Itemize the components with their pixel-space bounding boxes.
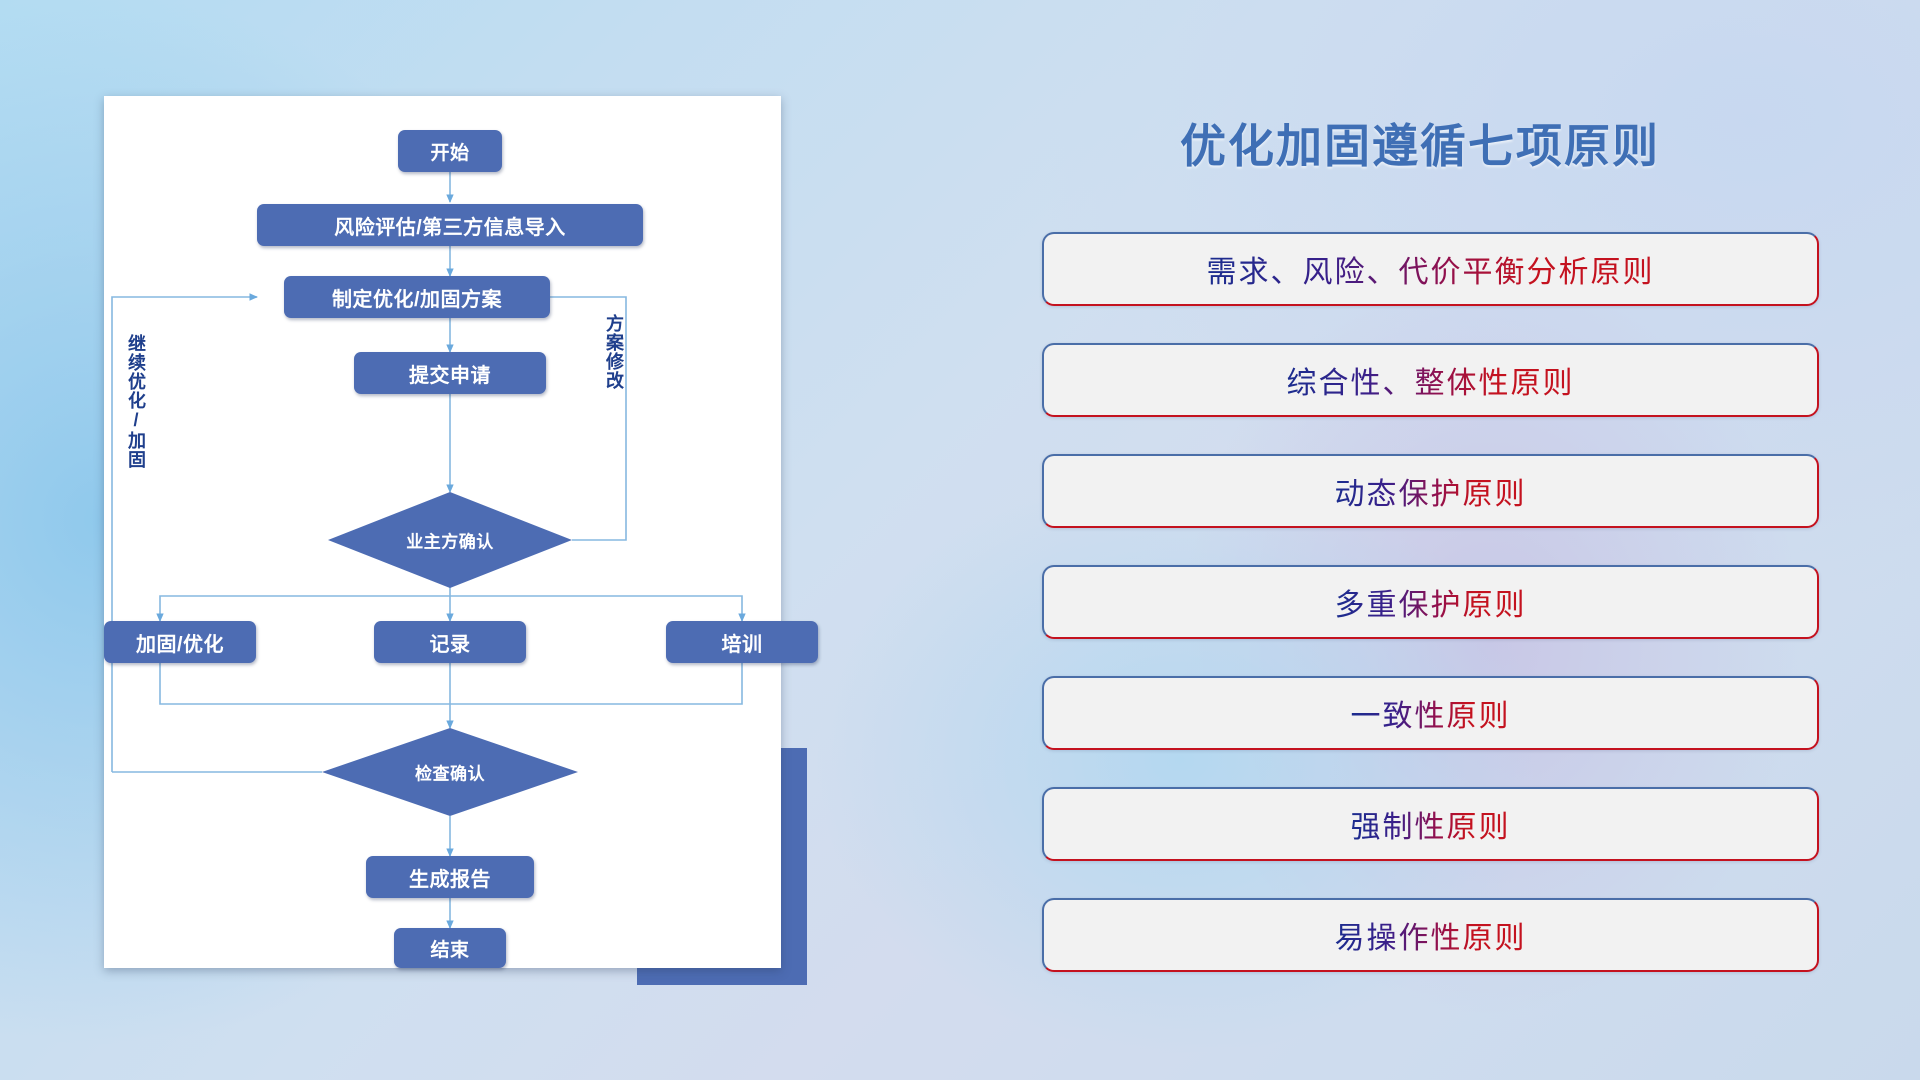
node-make-plan-label: 制定优化/加固方案 xyxy=(332,283,502,312)
principle-item-7[interactable]: 易操作性原则 xyxy=(1042,898,1819,972)
node-generate-report-label: 生成报告 xyxy=(409,863,491,892)
node-training[interactable]: 培训 xyxy=(666,621,818,663)
edge-label-continue-optimize: 继续优化/加固 xyxy=(126,334,146,469)
node-submit-application-label: 提交申请 xyxy=(409,359,491,388)
principle-item-4-label: 多重保护原则 xyxy=(1335,580,1527,624)
principle-item-5[interactable]: 一致性原则 xyxy=(1042,676,1819,750)
node-submit-application[interactable]: 提交申请 xyxy=(354,352,546,394)
principle-item-1[interactable]: 需求、风险、代价平衡分析原则 xyxy=(1042,232,1819,306)
principle-item-6-label: 强制性原则 xyxy=(1351,802,1511,846)
node-record[interactable]: 记录 xyxy=(374,621,526,663)
principle-item-2-label: 综合性、整体性原则 xyxy=(1287,358,1575,402)
node-reinforce-optimize-label: 加固/优化 xyxy=(136,628,224,657)
slide-canvas: 业主方确认 检查确认 开始 风险评估/第三方信息导入 制定优化/加固方案 提交申… xyxy=(0,0,1920,1080)
node-make-plan[interactable]: 制定优化/加固方案 xyxy=(284,276,550,318)
node-end-label: 结束 xyxy=(430,935,469,962)
principle-item-3-label: 动态保护原则 xyxy=(1335,469,1527,513)
principles-list: 需求、风险、代价平衡分析原则 综合性、整体性原则 动态保护原则 多重保护原则 一… xyxy=(1042,232,1819,1009)
principle-item-2[interactable]: 综合性、整体性原则 xyxy=(1042,343,1819,417)
node-start[interactable]: 开始 xyxy=(398,130,502,172)
flowchart-card: 业主方确认 检查确认 开始 风险评估/第三方信息导入 制定优化/加固方案 提交申… xyxy=(104,96,781,968)
node-generate-report[interactable]: 生成报告 xyxy=(366,856,534,898)
node-start-label: 开始 xyxy=(430,138,469,165)
principle-item-5-label: 一致性原则 xyxy=(1351,691,1511,735)
principle-item-6[interactable]: 强制性原则 xyxy=(1042,787,1819,861)
principles-panel: 优化加固遵循七项原则 需求、风险、代价平衡分析原则 综合性、整体性原则 动态保护… xyxy=(1020,0,1920,1080)
principle-item-7-label: 易操作性原则 xyxy=(1335,913,1527,957)
principles-title: 优化加固遵循七项原则 xyxy=(1020,110,1820,176)
principle-item-3[interactable]: 动态保护原则 xyxy=(1042,454,1819,528)
principle-item-1-label: 需求、风险、代价平衡分析原则 xyxy=(1207,247,1655,291)
decision-owner-confirm-label: 业主方确认 xyxy=(406,528,494,553)
node-risk-assessment[interactable]: 风险评估/第三方信息导入 xyxy=(257,204,643,246)
node-end[interactable]: 结束 xyxy=(394,928,506,968)
edge-label-plan-revision: 方案修改 xyxy=(604,314,624,390)
node-reinforce-optimize[interactable]: 加固/优化 xyxy=(104,621,256,663)
flowchart-panel: 业主方确认 检查确认 开始 风险评估/第三方信息导入 制定优化/加固方案 提交申… xyxy=(0,0,900,1080)
node-risk-assessment-label: 风险评估/第三方信息导入 xyxy=(334,211,566,240)
node-training-label: 培训 xyxy=(722,628,763,657)
node-record-label: 记录 xyxy=(430,628,471,657)
principle-item-4[interactable]: 多重保护原则 xyxy=(1042,565,1819,639)
decision-check-confirm-label: 检查确认 xyxy=(415,760,485,785)
